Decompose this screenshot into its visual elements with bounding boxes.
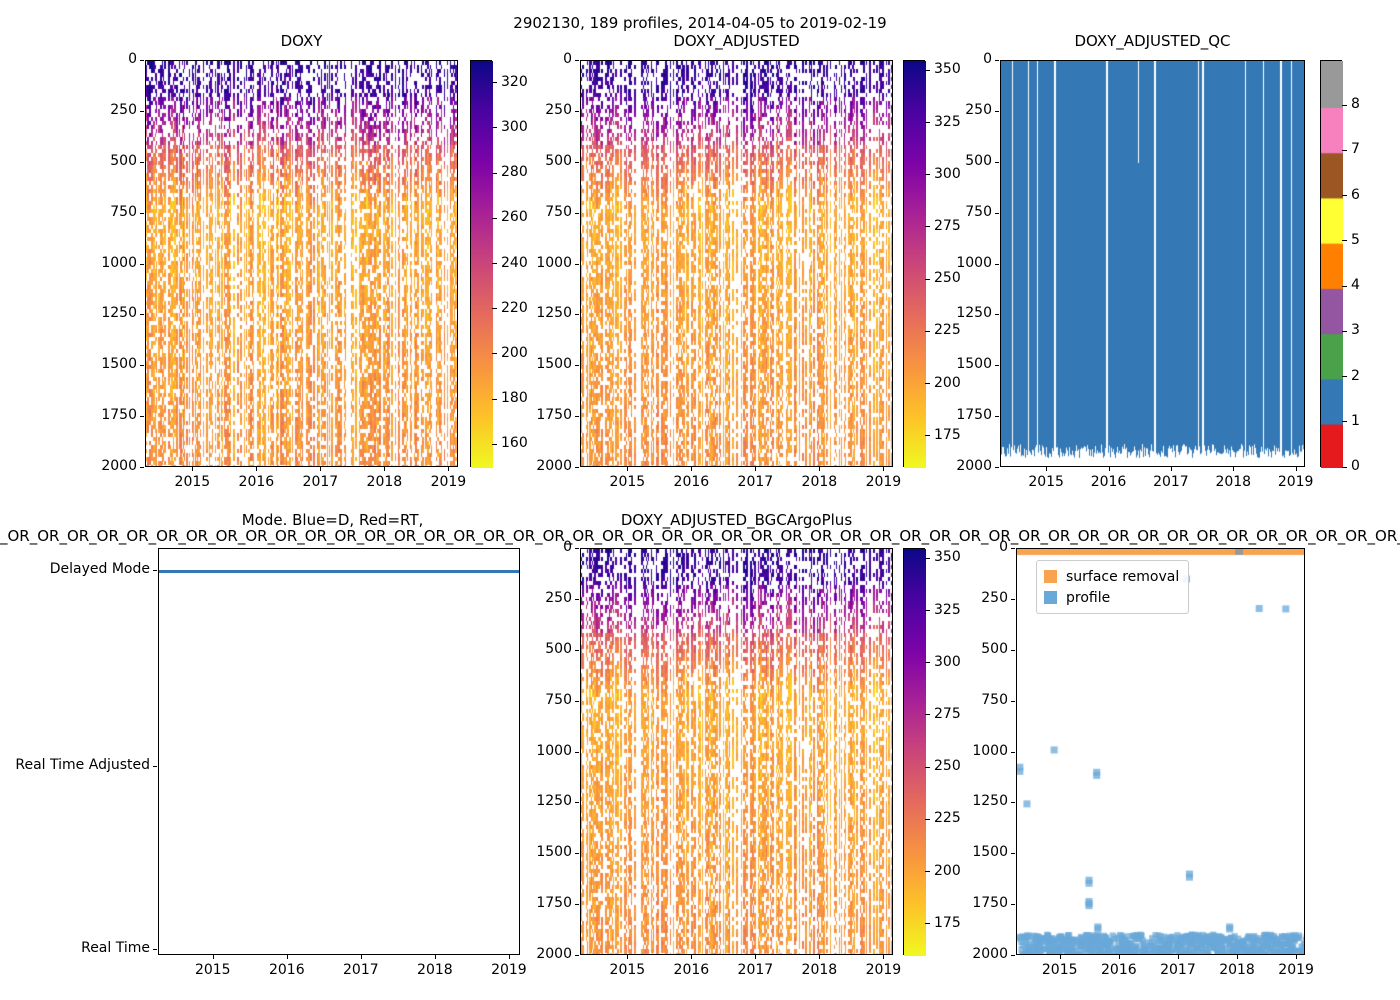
- legend-label-surface-removal: surface removal: [1066, 569, 1179, 585]
- ytick-label-doxy: 1000: [67, 255, 137, 271]
- ytick-mark-mode: [153, 949, 157, 950]
- ytick-label-outlier: 1250: [938, 793, 1008, 809]
- panel-title-doxy-adjusted-qc: DOXY_ADJUSTED_QC: [1000, 32, 1305, 50]
- cbar-tick-mark-doxy-adjusted: [925, 122, 930, 123]
- ytick-mark-doxy-adjusted: [575, 416, 579, 417]
- ytick-mark-doxy: [140, 111, 144, 112]
- ytick-mark-bgcargoplus: [575, 955, 579, 956]
- cbar-tick-mark-doxy: [492, 127, 497, 128]
- xtick-mark-outlier: [1296, 955, 1297, 959]
- xtick-label-doxy: 2015: [162, 474, 222, 490]
- ytick-label-doxy-adjusted: 2000: [502, 458, 572, 474]
- cbar-tick-mark-qc: [1342, 376, 1347, 377]
- ytick-mark-mode: [153, 766, 157, 767]
- xtick-label-mode: 2018: [405, 962, 465, 978]
- ytick-mark-doxy: [140, 365, 144, 366]
- cbar-tick-label-qc: 8: [1351, 96, 1360, 112]
- ytick-mark-doxy: [140, 60, 144, 61]
- xtick-label-doxy-adjusted: 2015: [597, 474, 657, 490]
- cbar-tick-label-doxy-adjusted: 250: [934, 270, 961, 286]
- cbar-tick-mark-doxy-adjusted: [925, 331, 930, 332]
- ytick-mark-qc: [995, 111, 999, 112]
- ytick-label-bgcargoplus: 0: [502, 539, 572, 555]
- ytick-mark-outlier: [1011, 752, 1015, 753]
- ytick-label-outlier: 1500: [938, 844, 1008, 860]
- ytick-label-bgcargoplus: 750: [502, 692, 572, 708]
- cbar-tick-label-bgcargoplus: 175: [934, 915, 961, 931]
- cbar-tick-mark-qc: [1342, 195, 1347, 196]
- ytick-label-doxy: 250: [67, 102, 137, 118]
- ytick-mark-qc: [995, 365, 999, 366]
- xtick-label-doxy: 2018: [354, 474, 414, 490]
- xtick-mark-mode: [509, 955, 510, 959]
- cbar-tick-label-doxy: 300: [501, 119, 528, 135]
- xtick-mark-doxy: [320, 467, 321, 471]
- xtick-mark-bgcargoplus: [755, 955, 756, 959]
- ytick-label-doxy: 500: [67, 153, 137, 169]
- xtick-mark-outlier: [1237, 955, 1238, 959]
- cbar-tick-label-bgcargoplus: 200: [934, 863, 961, 879]
- cbar-tick-label-doxy-adjusted: 325: [934, 114, 961, 130]
- xtick-label-mode: 2016: [257, 962, 317, 978]
- cbar-tick-mark-doxy: [492, 82, 497, 83]
- xtick-mark-doxy-adjusted: [627, 467, 628, 471]
- xtick-label-qc: 2015: [1016, 474, 1076, 490]
- xtick-label-doxy-adjusted: 2019: [853, 474, 913, 490]
- cbar-tick-label-doxy-adjusted: 275: [934, 218, 961, 234]
- xtick-mark-doxy-adjusted: [883, 467, 884, 471]
- xtick-mark-doxy: [192, 467, 193, 471]
- cbar-tick-label-doxy-adjusted: 300: [934, 166, 961, 182]
- ytick-mark-outlier: [1011, 955, 1015, 956]
- ytick-mark-doxy-adjusted: [575, 111, 579, 112]
- ytick-mark-outlier: [1011, 701, 1015, 702]
- cbar-tick-mark-bgcargoplus: [925, 714, 930, 715]
- ytick-label-qc: 1000: [922, 255, 992, 271]
- panel-title-doxy: DOXY: [145, 32, 458, 50]
- xtick-mark-doxy: [384, 467, 385, 471]
- ytick-mark-doxy-adjusted: [575, 467, 579, 468]
- ytick-mark-doxy: [140, 162, 144, 163]
- ytick-mark-outlier: [1011, 548, 1015, 549]
- ytick-mark-qc: [995, 60, 999, 61]
- cbar-tick-label-doxy: 280: [501, 164, 528, 180]
- cbar-tick-label-bgcargoplus: 225: [934, 810, 961, 826]
- xtick-label-outlier: 2019: [1266, 962, 1326, 978]
- xtick-label-qc: 2018: [1203, 474, 1263, 490]
- mode-delayed-line: [159, 570, 519, 573]
- xtick-label-doxy: 2019: [418, 474, 478, 490]
- ytick-label-doxy-adjusted: 0: [502, 51, 572, 67]
- xtick-label-bgcargoplus: 2016: [661, 962, 721, 978]
- cbar-tick-label-doxy-adjusted: 350: [934, 61, 961, 77]
- xtick-mark-qc: [1109, 467, 1110, 471]
- ytick-label-outlier: 2000: [938, 946, 1008, 962]
- xtick-label-outlier: 2016: [1089, 962, 1149, 978]
- cbar-tick-label-qc: 2: [1351, 368, 1360, 384]
- ytick-mark-bgcargoplus: [575, 701, 579, 702]
- ytick-mark-outlier: [1011, 599, 1015, 600]
- cbar-tick-mark-bgcargoplus: [925, 923, 930, 924]
- ytick-label-bgcargoplus: 1000: [502, 743, 572, 759]
- ytick-mark-doxy-adjusted: [575, 365, 579, 366]
- ytick-mark-doxy-adjusted: [575, 162, 579, 163]
- xtick-mark-doxy: [448, 467, 449, 471]
- xtick-mark-bgcargoplus: [627, 955, 628, 959]
- cbar-tick-label-bgcargoplus: 275: [934, 706, 961, 722]
- xtick-mark-outlier: [1060, 955, 1061, 959]
- ytick-mark-doxy-adjusted: [575, 314, 579, 315]
- legend-swatch-profile: [1044, 591, 1057, 604]
- legend-label-profile: profile: [1066, 590, 1110, 606]
- ytick-label-bgcargoplus: 500: [502, 641, 572, 657]
- cbar-tick-mark-doxy: [492, 353, 497, 354]
- legend-item: surface removal: [1044, 566, 1179, 587]
- ytick-label-bgcargoplus: 1500: [502, 844, 572, 860]
- xtick-mark-outlier: [1178, 955, 1179, 959]
- cbar-tick-label-qc: 7: [1351, 141, 1360, 157]
- cbar-tick-mark-doxy: [492, 218, 497, 219]
- legend-item: profile: [1044, 587, 1179, 608]
- xtick-label-bgcargoplus: 2019: [853, 962, 913, 978]
- ytick-mark-doxy-adjusted: [575, 60, 579, 61]
- xtick-mark-mode: [287, 955, 288, 959]
- xtick-mark-doxy-adjusted: [691, 467, 692, 471]
- cbar-tick-label-doxy: 200: [501, 345, 528, 361]
- panel-mode: [158, 548, 520, 955]
- ytick-label-mode: Delayed Mode: [0, 561, 150, 577]
- cbar-tick-mark-doxy: [492, 444, 497, 445]
- xtick-mark-bgcargoplus: [691, 955, 692, 959]
- cbar-tick-mark-doxy: [492, 173, 497, 174]
- ytick-mark-doxy: [140, 467, 144, 468]
- ytick-mark-qc: [995, 264, 999, 265]
- xtick-label-mode: 2015: [183, 962, 243, 978]
- cbar-tick-mark-doxy-adjusted: [925, 279, 930, 280]
- xtick-mark-outlier: [1119, 955, 1120, 959]
- ytick-mark-bgcargoplus: [575, 548, 579, 549]
- panel-doxy-adjusted: [580, 60, 893, 467]
- xtick-label-outlier: 2015: [1030, 962, 1090, 978]
- ytick-label-doxy: 2000: [67, 458, 137, 474]
- ytick-label-qc: 2000: [922, 458, 992, 474]
- ytick-label-bgcargoplus: 1750: [502, 895, 572, 911]
- cbar-tick-label-doxy: 160: [501, 435, 528, 451]
- xtick-mark-doxy-adjusted: [819, 467, 820, 471]
- cbar-tick-mark-doxy-adjusted: [925, 70, 930, 71]
- panel-bgcargoplus: [580, 548, 893, 955]
- xtick-mark-qc: [1296, 467, 1297, 471]
- ytick-mark-doxy: [140, 416, 144, 417]
- cbar-tick-label-doxy: 260: [501, 209, 528, 225]
- ytick-mark-doxy: [140, 264, 144, 265]
- xtick-mark-mode: [361, 955, 362, 959]
- colorbar-qc: [1320, 60, 1342, 467]
- cbar-tick-label-qc: 4: [1351, 277, 1360, 293]
- colorbar-bgcargoplus: [903, 548, 925, 955]
- ytick-label-doxy: 1250: [67, 305, 137, 321]
- xtick-label-outlier: 2018: [1207, 962, 1267, 978]
- cbar-tick-mark-doxy: [492, 399, 497, 400]
- ytick-label-mode: Real Time Adjusted: [0, 757, 150, 773]
- cbar-tick-label-qc: 6: [1351, 187, 1360, 203]
- xtick-mark-doxy: [256, 467, 257, 471]
- ytick-mark-bgcargoplus: [575, 650, 579, 651]
- ytick-label-doxy: 0: [67, 51, 137, 67]
- ytick-label-qc: 1250: [922, 305, 992, 321]
- ytick-label-qc: 1500: [922, 356, 992, 372]
- cbar-tick-mark-bgcargoplus: [925, 558, 930, 559]
- cbar-tick-label-bgcargoplus: 300: [934, 654, 961, 670]
- ytick-mark-qc: [995, 314, 999, 315]
- ytick-mark-qc: [995, 162, 999, 163]
- cbar-tick-mark-bgcargoplus: [925, 610, 930, 611]
- ytick-label-doxy: 750: [67, 204, 137, 220]
- cbar-tick-label-qc: 1: [1351, 413, 1360, 429]
- cbar-tick-label-doxy-adjusted: 225: [934, 322, 961, 338]
- cbar-tick-mark-doxy-adjusted: [925, 174, 930, 175]
- ytick-label-doxy-adjusted: 1750: [502, 407, 572, 423]
- panel-doxy: [145, 60, 458, 467]
- panel-doxy-adjusted-qc: [1000, 60, 1305, 467]
- ytick-label-mode: Real Time: [0, 940, 150, 956]
- cbar-tick-label-doxy-adjusted: 175: [934, 427, 961, 443]
- xtick-label-mode: 2017: [331, 962, 391, 978]
- xtick-label-qc: 2019: [1266, 474, 1326, 490]
- xtick-label-doxy-adjusted: 2017: [725, 474, 785, 490]
- ytick-mark-mode: [153, 570, 157, 571]
- cbar-tick-label-bgcargoplus: 250: [934, 758, 961, 774]
- xtick-mark-bgcargoplus: [819, 955, 820, 959]
- cbar-tick-mark-qc: [1342, 421, 1347, 422]
- ytick-mark-bgcargoplus: [575, 599, 579, 600]
- ytick-mark-bgcargoplus: [575, 904, 579, 905]
- ytick-mark-qc: [995, 213, 999, 214]
- cbar-tick-mark-doxy-adjusted: [925, 435, 930, 436]
- xtick-mark-mode: [213, 955, 214, 959]
- cbar-tick-label-doxy: 220: [501, 300, 528, 316]
- xtick-label-outlier: 2017: [1148, 962, 1208, 978]
- cbar-tick-mark-doxy-adjusted: [925, 383, 930, 384]
- ytick-mark-outlier: [1011, 853, 1015, 854]
- xtick-label-doxy-adjusted: 2016: [661, 474, 721, 490]
- xtick-label-bgcargoplus: 2015: [597, 962, 657, 978]
- figure-canvas: 2902130, 189 profiles, 2014-04-05 to 201…: [0, 0, 1400, 1000]
- cbar-tick-mark-doxy-adjusted: [925, 226, 930, 227]
- xtick-label-qc: 2016: [1079, 474, 1139, 490]
- cbar-tick-mark-bgcargoplus: [925, 819, 930, 820]
- xtick-label-qc: 2017: [1141, 474, 1201, 490]
- figure-suptitle: 2902130, 189 profiles, 2014-04-05 to 201…: [0, 14, 1400, 32]
- ytick-mark-outlier: [1011, 802, 1015, 803]
- cbar-tick-label-doxy-adjusted: 200: [934, 375, 961, 391]
- cbar-tick-mark-doxy: [492, 263, 497, 264]
- xtick-mark-doxy-adjusted: [755, 467, 756, 471]
- xtick-label-bgcargoplus: 2017: [725, 962, 785, 978]
- xtick-label-bgcargoplus: 2018: [789, 962, 849, 978]
- legend-outlier: surface removal profile: [1036, 560, 1189, 614]
- legend-swatch-surface-removal: [1044, 570, 1057, 583]
- cbar-tick-mark-qc: [1342, 467, 1347, 468]
- ytick-label-bgcargoplus: 250: [502, 590, 572, 606]
- cbar-tick-label-qc: 5: [1351, 232, 1360, 248]
- cbar-tick-mark-qc: [1342, 331, 1347, 332]
- xtick-mark-mode: [435, 955, 436, 959]
- ytick-label-bgcargoplus: 1250: [502, 793, 572, 809]
- cbar-tick-label-doxy: 180: [501, 390, 528, 406]
- cbar-tick-mark-bgcargoplus: [925, 767, 930, 768]
- cbar-tick-mark-qc: [1342, 150, 1347, 151]
- ytick-label-qc: 1750: [922, 407, 992, 423]
- xtick-label-doxy: 2016: [226, 474, 286, 490]
- ytick-mark-doxy-adjusted: [575, 213, 579, 214]
- cbar-tick-label-bgcargoplus: 325: [934, 602, 961, 618]
- ytick-mark-bgcargoplus: [575, 853, 579, 854]
- ytick-label-doxy: 1500: [67, 356, 137, 372]
- cbar-tick-label-qc: 0: [1351, 458, 1360, 474]
- overflow-title-text: _OR_OR_OR_OR_OR_OR_OR_OR_OR_OR_OR_OR_OR_…: [0, 527, 1400, 545]
- cbar-tick-label-qc: 3: [1351, 322, 1360, 338]
- cbar-tick-mark-qc: [1342, 105, 1347, 106]
- ytick-label-doxy: 1750: [67, 407, 137, 423]
- ytick-label-outlier: 1000: [938, 743, 1008, 759]
- xtick-mark-bgcargoplus: [883, 955, 884, 959]
- colorbar-doxy: [470, 60, 492, 467]
- cbar-tick-mark-doxy: [492, 308, 497, 309]
- xtick-label-mode: 2019: [479, 962, 539, 978]
- xtick-mark-qc: [1233, 467, 1234, 471]
- cbar-tick-mark-qc: [1342, 286, 1347, 287]
- ytick-label-bgcargoplus: 2000: [502, 946, 572, 962]
- cbar-tick-mark-bgcargoplus: [925, 871, 930, 872]
- cbar-tick-label-doxy: 320: [501, 74, 528, 90]
- ytick-mark-bgcargoplus: [575, 802, 579, 803]
- xtick-label-doxy: 2017: [290, 474, 350, 490]
- xtick-mark-qc: [1171, 467, 1172, 471]
- ytick-mark-doxy: [140, 314, 144, 315]
- ytick-mark-outlier: [1011, 650, 1015, 651]
- ytick-mark-outlier: [1011, 904, 1015, 905]
- ytick-label-doxy-adjusted: 250: [502, 102, 572, 118]
- panel-title-doxy-adjusted: DOXY_ADJUSTED: [580, 32, 893, 50]
- cbar-tick-label-doxy: 240: [501, 255, 528, 271]
- ytick-mark-bgcargoplus: [575, 752, 579, 753]
- xtick-label-doxy-adjusted: 2018: [789, 474, 849, 490]
- overflow-title-band: _OR_OR_OR_OR_OR_OR_OR_OR_OR_OR_OR_OR_OR_…: [0, 527, 1400, 545]
- cbar-tick-label-bgcargoplus: 350: [934, 549, 961, 565]
- ytick-mark-doxy: [140, 213, 144, 214]
- cbar-tick-mark-bgcargoplus: [925, 662, 930, 663]
- cbar-tick-mark-qc: [1342, 240, 1347, 241]
- ytick-mark-qc: [995, 467, 999, 468]
- ytick-label-outlier: 1750: [938, 895, 1008, 911]
- ytick-mark-qc: [995, 416, 999, 417]
- ytick-mark-doxy-adjusted: [575, 264, 579, 265]
- xtick-mark-qc: [1046, 467, 1047, 471]
